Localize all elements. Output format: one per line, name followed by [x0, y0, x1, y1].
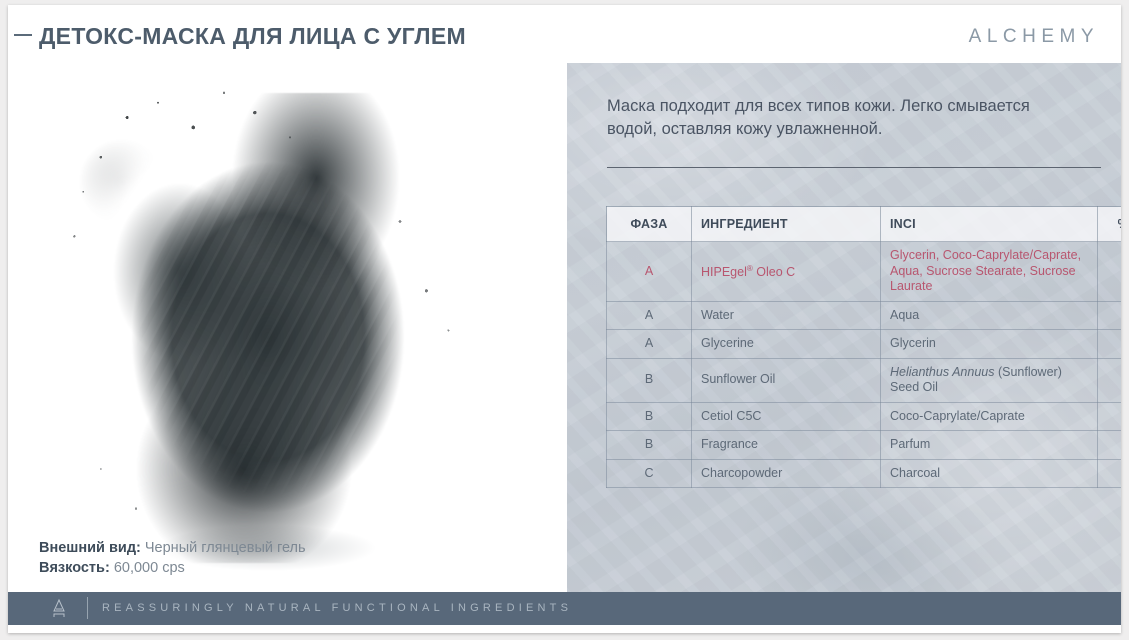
cell-ingredient: Sunflower Oil — [692, 358, 881, 402]
table-header-row: ФАЗА ИНГРЕДИЕНТ INCI % W/W — [607, 207, 1122, 242]
cell-phase: B — [607, 402, 692, 431]
cell-pct: 0.50 — [1098, 431, 1122, 460]
cell-pct: 6.00 — [1098, 242, 1122, 302]
cell-phase: B — [607, 431, 692, 460]
cell-ingredient: Water — [692, 301, 881, 330]
footer-tagline: REASSURINGLY NATURAL FUNCTIONAL INGREDIE… — [102, 602, 572, 614]
slide-footer: REASSURINGLY NATURAL FUNCTIONAL INGREDIE… — [8, 592, 1121, 625]
cell-pct: 42.00 — [1098, 402, 1122, 431]
cell-ingredient: Fragrance — [692, 431, 881, 460]
cell-phase: A — [607, 242, 692, 302]
divider-rule — [607, 167, 1101, 168]
cell-inci: Parfum — [881, 431, 1098, 460]
charcoal-mask-photo — [48, 73, 488, 568]
col-header-pct: % W/W — [1098, 207, 1122, 242]
table-row: AGlycerineGlycerin7.50 — [607, 330, 1122, 359]
table-row: BFragranceParfum0.50 — [607, 431, 1122, 460]
table-row: BCetiol C5CCoco-Caprylate/Caprate42.00 — [607, 402, 1122, 431]
cell-ingredient: Cetiol C5C — [692, 402, 881, 431]
cell-pct: 1.50 — [1098, 301, 1122, 330]
appearance-label: Внешний вид: — [39, 540, 141, 556]
table-row: BSunflower OilHelianthus Annuus (Sunflow… — [607, 358, 1122, 402]
table-row: AHIPEgel® Oleo CGlycerin, Coco-Caprylate… — [607, 242, 1122, 302]
viscosity-line: Вязкость: 60,000 cps — [39, 558, 306, 578]
alchemy-a-mark-icon — [48, 598, 70, 619]
table-row: CCharcopowderCharcoal0.50 — [607, 459, 1122, 488]
formulation-panel: Маска подходит для всех типов кожи. Легк… — [567, 63, 1121, 600]
alchemy-logo: ALCHEMY — [969, 26, 1099, 48]
cell-phase: A — [607, 301, 692, 330]
appearance-line: Внешний вид: Черный глянцевый гель — [39, 538, 306, 558]
table-body: AHIPEgel® Oleo CGlycerin, Coco-Caprylate… — [607, 242, 1122, 488]
product-photo-panel: Внешний вид: Черный глянцевый гель Вязко… — [8, 63, 567, 600]
viscosity-label: Вязкость: — [39, 560, 110, 576]
footer-divider — [87, 597, 88, 619]
slide: ДЕТОКС-МАСКА ДЛЯ ЛИЦА С УГЛЕМ ALCHEMY Вн… — [8, 5, 1121, 633]
product-caption: Внешний вид: Черный глянцевый гель Вязко… — [39, 538, 306, 578]
cell-inci: Glycerin, Coco-Caprylate/Caprate, Aqua, … — [881, 242, 1098, 302]
cell-ingredient: Glycerine — [692, 330, 881, 359]
cell-phase: B — [607, 358, 692, 402]
cell-phase: A — [607, 330, 692, 359]
col-header-ingredient: ИНГРЕДИЕНТ — [692, 207, 881, 242]
cell-inci: Glycerin — [881, 330, 1098, 359]
product-description: Маска подходит для всех типов кожи. Легк… — [607, 95, 1077, 141]
page-title: ДЕТОКС-МАСКА ДЛЯ ЛИЦА С УГЛЕМ — [39, 23, 466, 50]
cell-pct: 7.50 — [1098, 330, 1122, 359]
cell-inci: Charcoal — [881, 459, 1098, 488]
slide-header: ДЕТОКС-МАСКА ДЛЯ ЛИЦА С УГЛЕМ ALCHEMY — [8, 5, 1121, 63]
cell-pct: 42.00 — [1098, 358, 1122, 402]
cell-inci: Helianthus Annuus (Sunflower) Seed Oil — [881, 358, 1098, 402]
cell-inci: Coco-Caprylate/Caprate — [881, 402, 1098, 431]
title-dash-icon — [14, 34, 32, 36]
appearance-value: Черный глянцевый гель — [145, 540, 306, 556]
formulation-table: ФАЗА ИНГРЕДИЕНТ INCI % W/W AHIPEgel® Ole… — [606, 206, 1121, 488]
col-header-inci: INCI — [881, 207, 1098, 242]
cell-phase: C — [607, 459, 692, 488]
col-header-phase: ФАЗА — [607, 207, 692, 242]
cell-ingredient: Charcopowder — [692, 459, 881, 488]
cell-inci: Aqua — [881, 301, 1098, 330]
charcoal-spatter — [48, 73, 488, 568]
table-row: AWaterAqua1.50 — [607, 301, 1122, 330]
cell-pct: 0.50 — [1098, 459, 1122, 488]
cell-ingredient: HIPEgel® Oleo C — [692, 242, 881, 302]
viscosity-value: 60,000 cps — [114, 560, 185, 576]
